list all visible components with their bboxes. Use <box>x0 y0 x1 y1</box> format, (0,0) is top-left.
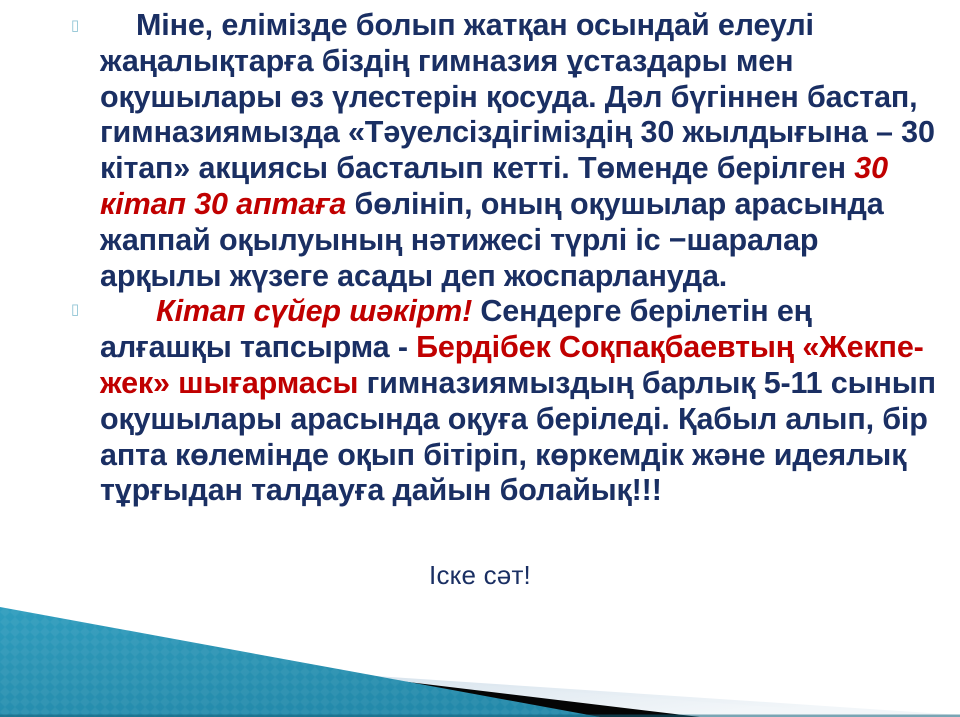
paragraph-1-text: Міне, елімізде болып жатқан осындай елеу… <box>100 0 948 294</box>
footer-decoration-graphic <box>0 587 960 717</box>
footer-light-wedge-2 <box>0 649 905 717</box>
footer-light-wedge <box>0 651 960 717</box>
run-p2-headline-emphasis: Кітап сүйер шәкірт! <box>156 294 472 328</box>
paragraph-block-2: ▯ Кітап сүйер шәкірт! Сендерге берілетін… <box>0 294 960 509</box>
slide-canvas: ▯ Міне, елімізде болып жатқан осындай ел… <box>0 0 960 717</box>
run-p1-a: Міне, елімізде болып жатқан осындай елеу… <box>100 8 935 185</box>
bullet-marker-icon-2: ▯ <box>66 302 84 317</box>
slide-body-text: ▯ Міне, елімізде болып жатқан осындай ел… <box>0 0 960 509</box>
footer-teal-texture <box>0 607 600 717</box>
bullet-marker-icon: ▯ <box>66 18 84 33</box>
footer-teal-triangle <box>0 607 600 717</box>
paragraph-block-1: ▯ Міне, елімізде болып жатқан осындай ел… <box>0 0 960 294</box>
footer-decoration <box>0 587 960 717</box>
paragraph-2-text: Кітап сүйер шәкірт! Сендерге берілетін е… <box>100 294 948 509</box>
closing-line: Іске сәт! <box>0 559 960 591</box>
footer-black-stripe <box>0 633 700 717</box>
